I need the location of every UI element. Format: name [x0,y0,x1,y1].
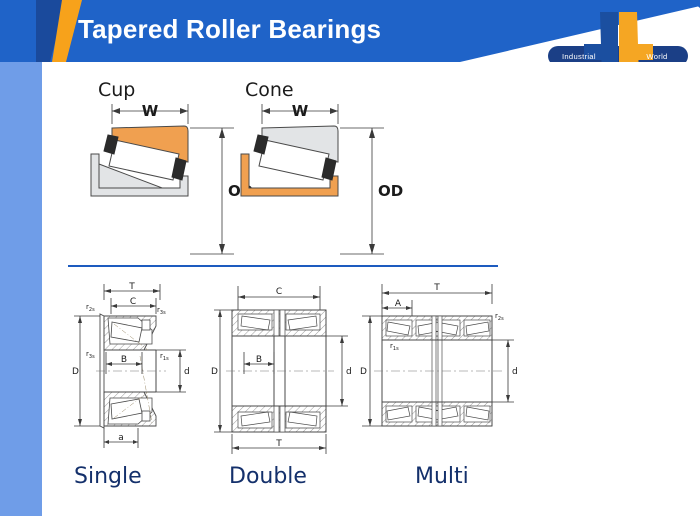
slide-content: Cup Cone W [42,62,700,516]
single-dim-d-outer: D [72,367,79,377]
multi-dim-t: T [433,283,440,293]
double-bearing-diagram: C [202,278,362,468]
single-caption: Single [74,464,142,489]
single-radius-r2s: r2s [86,303,95,313]
single-dim-a: a [118,433,124,443]
double-dim-c: C [276,287,282,297]
left-sidebar-strip [0,62,42,516]
single-dim-c: C [130,297,136,307]
single-dim-d-inner: d [184,367,190,377]
multi-caption: Multi [415,464,469,489]
multi-radius-r2s: r2s [495,312,504,322]
double-caption: Double [229,464,307,489]
cup-dim-w: W [142,102,159,120]
section-divider [68,265,498,267]
cone-dim-w: W [292,102,309,120]
multi-radius-r1s: r1s [390,342,399,352]
double-dim-b: B [256,355,262,365]
single-radius-r3s-left: r3s [86,350,95,360]
cone-dim-od: OD [378,182,403,200]
multi-dim-a: A [395,299,402,309]
logo-right-text: World [646,52,667,61]
single-dim-b: B [121,355,127,365]
single-radius-r3s: r3s [157,306,166,316]
single-dim-t: T [128,282,135,292]
page-title: Tapered Roller Bearings [78,14,381,45]
double-dim-t: T [275,439,282,449]
multi-bearing-diagram: T A r2s r1s [350,278,530,468]
double-dim-d-outer: D [211,367,218,377]
single-bearing-diagram: T C r2s r3s r3s r1s [56,278,206,468]
single-radius-r1s: r1s [160,352,169,362]
multi-dim-d-inner: d [512,367,518,377]
cone-diagram: W OD [212,98,402,283]
logo-left-text: Industrial [562,52,596,61]
multi-dim-d-outer: D [360,367,367,377]
